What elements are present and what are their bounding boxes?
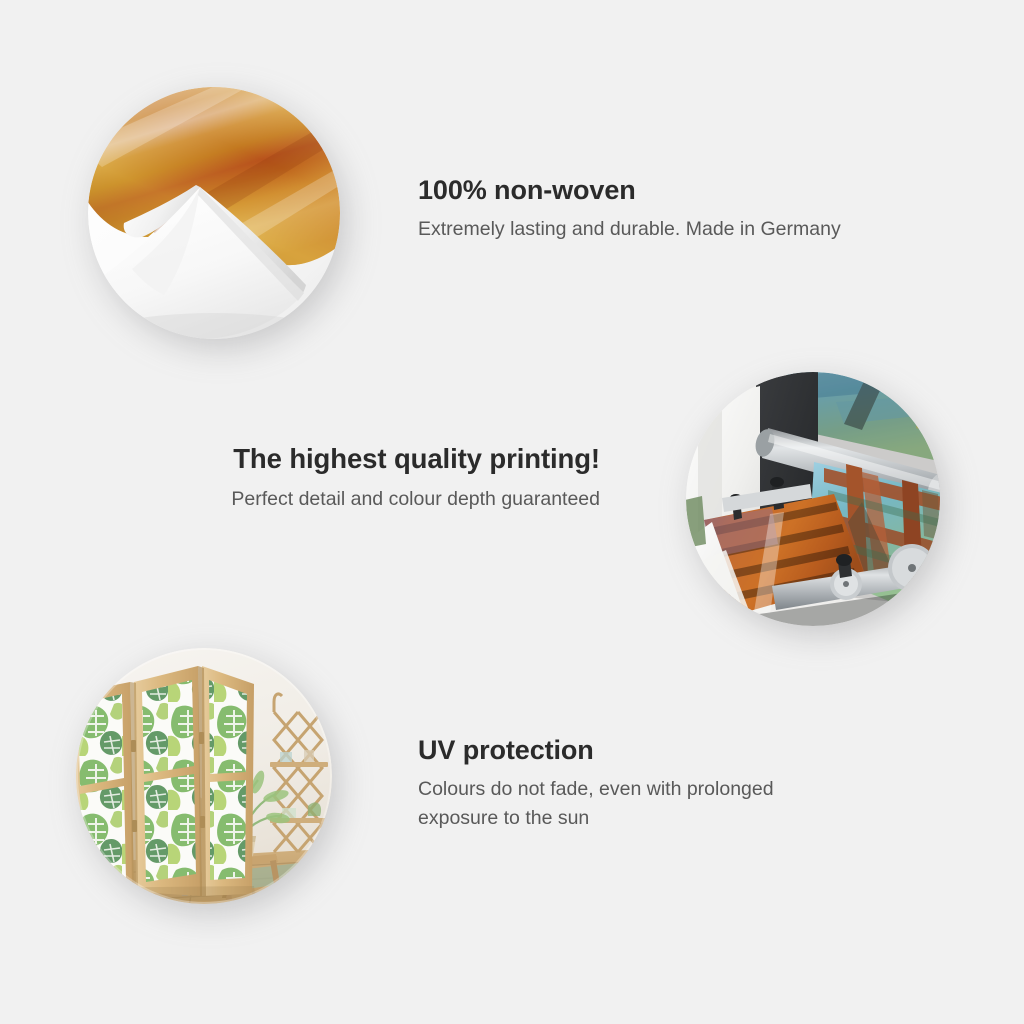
divider-panel-right-bottom xyxy=(210,780,246,880)
divider-panel-left-bottom xyxy=(80,786,126,888)
feature-description-nonwoven: Extremely lasting and durable. Made in G… xyxy=(418,215,858,243)
feature-description-printing: Perfect detail and colour depth guarante… xyxy=(198,485,600,513)
divider-panel-mid-bottom xyxy=(144,774,196,882)
infographic-canvas: 100% non-woven Extremely lasting and dur… xyxy=(0,0,1024,1024)
feature-text-nonwoven: 100% non-woven Extremely lasting and dur… xyxy=(418,175,858,244)
feature-title-nonwoven: 100% non-woven xyxy=(418,175,858,206)
feature-image-uv xyxy=(76,648,332,904)
divider-panel-left-top xyxy=(78,694,124,786)
divider-panel-right-top xyxy=(209,680,247,774)
feature-description-uv: Colours do not fade, even with prolonged… xyxy=(418,775,818,832)
feature-image-nonwoven xyxy=(88,87,340,339)
divider-panel-mid-top xyxy=(142,680,194,774)
feature-title-uv: UV protection xyxy=(418,735,818,766)
printing-press-illustration xyxy=(686,372,940,626)
feature-title-printing: The highest quality printing! xyxy=(198,443,600,475)
feature-image-printing xyxy=(686,372,940,626)
feature-text-printing: The highest quality printing! Perfect de… xyxy=(198,443,600,513)
wallpaper-inner-shadow xyxy=(94,313,334,339)
feature-text-uv: UV protection Colours do not fade, even … xyxy=(418,735,818,832)
room-divider-illustration xyxy=(76,648,332,904)
peeling-wallpaper-illustration xyxy=(88,87,340,339)
